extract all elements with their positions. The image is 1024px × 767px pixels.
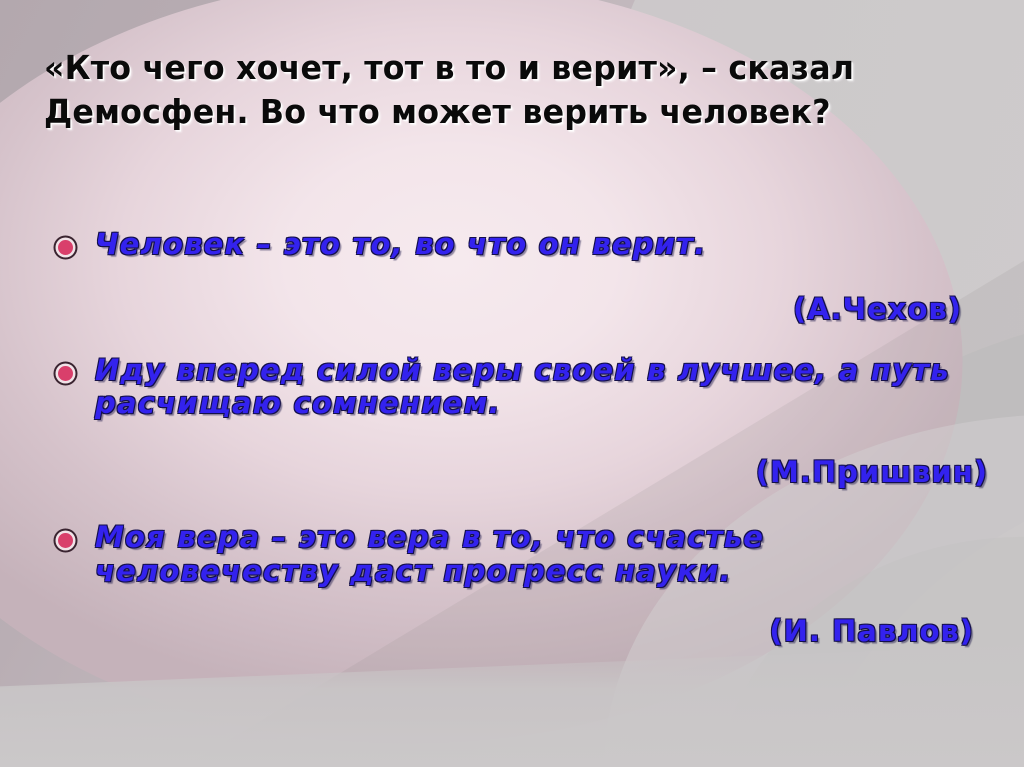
ring-bullet-icon (58, 533, 73, 548)
ring-bullet-icon (58, 366, 73, 381)
list-item: Иду вперед силой веры своей в лучшее, а … (58, 354, 998, 421)
bullet-text: Моя вера – это вера в то, что счастье че… (95, 521, 998, 588)
ring-bullet-icon (58, 240, 73, 255)
slide-canvas: «Кто чего хочет, тот в то и верит», – ск… (0, 0, 1024, 767)
list-item: Моя вера – это вера в то, что счастье че… (58, 521, 998, 588)
slide-title: «Кто чего хочет, тот в то и верит», – ск… (44, 46, 937, 133)
bullet-text: Человек – это то, во что он верит. (95, 228, 998, 262)
bullet-attribution: (А.Чехов) (58, 292, 998, 326)
bullet-attribution: (И. Павлов) (58, 614, 998, 648)
bullet-text: Иду вперед силой веры своей в лучшее, а … (95, 354, 998, 421)
list-item: Человек – это то, во что он верит. (58, 228, 998, 262)
bullet-list: Человек – это то, во что он верит. (А.Че… (58, 228, 998, 648)
slide-content: «Кто чего хочет, тот в то и верит», – ск… (0, 0, 1024, 767)
bullet-attribution: (М.Пришвин) (58, 455, 998, 489)
